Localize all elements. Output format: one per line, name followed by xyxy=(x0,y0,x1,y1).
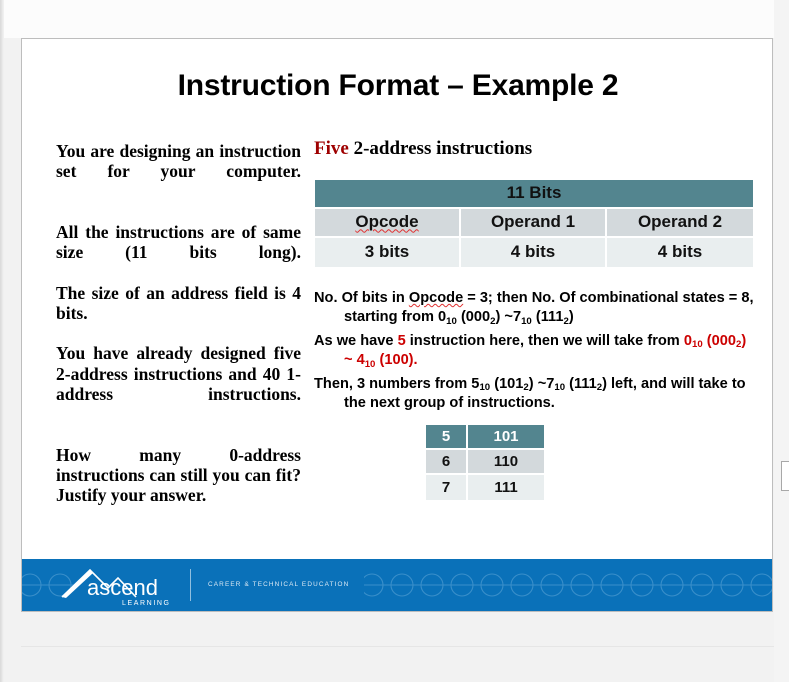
page-separator-line xyxy=(21,646,774,647)
logo-divider xyxy=(190,569,191,601)
table-row-span-header: 11 Bits xyxy=(315,180,753,209)
solution-heading-rest: 2-address instructions xyxy=(349,138,532,159)
explanation-line-3: Then, 3 numbers from 510 (1012) ~710 (11… xyxy=(314,375,754,414)
instruction-count: 5 xyxy=(398,333,406,349)
clipped-side-panel-handle[interactable] xyxy=(781,461,789,491)
table-row: 5 101 xyxy=(426,425,544,450)
instruction-format-table: 11 Bits Opcode Operand 1 Operand 2 3 bit… xyxy=(315,180,753,267)
remaining-opcodes-table: 5 101 6 110 7 111 xyxy=(426,425,544,500)
footer-tagline: CAREER & TECHNICAL EDUCATION xyxy=(208,581,349,588)
solution-heading-highlight: Five xyxy=(314,138,349,159)
field-size-operand-1: 4 bits xyxy=(461,238,607,267)
field-name-opcode: Opcode xyxy=(315,209,461,238)
window-left-edge xyxy=(0,0,4,682)
solution-column: Five 2-address instructions 11 Bits Opco… xyxy=(314,139,762,500)
problem-statement-column: You are designing an instruction set for… xyxy=(56,141,301,505)
presentation-slide: Instruction Format – Example 2 You are d… xyxy=(21,38,773,612)
table-row-field-sizes: 3 bits 4 bits 4 bits xyxy=(315,238,753,267)
field-size-operand-2: 4 bits xyxy=(607,238,753,267)
footer-banner: ascend LEARNING CAREER & TECHNICAL EDUCA… xyxy=(22,559,772,611)
window-right-strip xyxy=(774,0,789,682)
remaining-binary: 111 xyxy=(468,475,544,500)
bits-span-header-cell: 11 Bits xyxy=(315,180,753,209)
opcode-mention: Opcode xyxy=(409,290,463,306)
table-row: 6 110 xyxy=(426,450,544,475)
remaining-decimal: 6 xyxy=(426,450,468,475)
ascend-learning-logo: ascend LEARNING xyxy=(60,564,180,608)
explanation-line-2: As we have 5 instruction here, then we w… xyxy=(314,332,754,371)
problem-paragraph-3: The size of an address field is 4 bits. xyxy=(56,283,301,324)
remaining-binary: 101 xyxy=(468,425,544,450)
field-name-operand-1: Operand 1 xyxy=(461,209,607,238)
remaining-decimal: 7 xyxy=(426,475,468,500)
screenshot-viewport: Instruction Format – Example 2 You are d… xyxy=(0,0,789,682)
explanation-block: No. Of bits in Opcode = 3; then No. Of c… xyxy=(314,289,754,413)
remaining-decimal: 5 xyxy=(426,425,468,450)
remaining-binary: 110 xyxy=(468,450,544,475)
field-size-opcode: 3 bits xyxy=(315,238,461,267)
paragraph-spacer xyxy=(56,425,301,445)
field-name-operand-2: Operand 2 xyxy=(607,209,753,238)
window-top-area xyxy=(4,0,789,38)
table-row-field-names: Opcode Operand 1 Operand 2 xyxy=(315,209,753,238)
paragraph-spacer xyxy=(56,202,301,222)
table-row: 7 111 xyxy=(426,475,544,500)
page-title: Instruction Format – Example 2 xyxy=(22,69,774,103)
solution-heading: Five 2-address instructions xyxy=(314,139,762,160)
paragraph-spacer xyxy=(56,323,301,343)
logo-wordmark: ascend xyxy=(87,575,158,600)
problem-paragraph-1: You are designing an instruction set for… xyxy=(56,141,301,202)
mountain-icon: ascend LEARNING xyxy=(60,564,180,608)
problem-paragraph-5: How many 0-address instructions can stil… xyxy=(56,445,301,506)
opcode-label: Opcode xyxy=(355,212,418,231)
logo-subtext: LEARNING xyxy=(122,600,171,607)
problem-paragraph-2: All the instructions are of same size (1… xyxy=(56,222,301,283)
explanation-line-1: No. Of bits in Opcode = 3; then No. Of c… xyxy=(314,289,754,328)
problem-paragraph-4: You have already designed five 2-address… xyxy=(56,343,301,424)
